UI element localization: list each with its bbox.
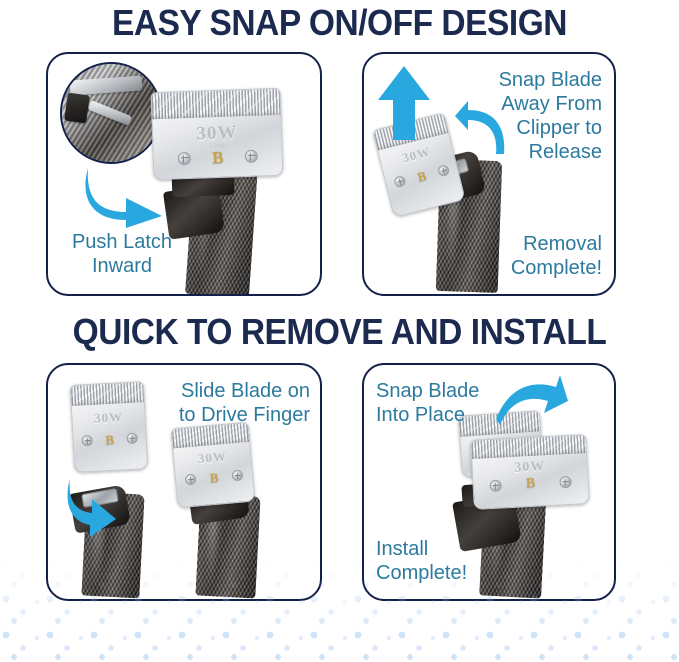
brand-logo-b: B xyxy=(73,430,146,450)
brand-logo-b: B xyxy=(176,467,253,490)
clipper-blade: 30W 1.5mm B xyxy=(151,88,284,180)
seated-blade-right: 30W B xyxy=(171,422,256,508)
caption-slide-blade: Slide Blade on to Drive Finger xyxy=(142,379,310,427)
brand-logo-b: B xyxy=(385,160,459,193)
caption-snap-into-place: Snap Blade Into Place xyxy=(376,379,526,427)
caption-install-complete: Install Complete! xyxy=(376,537,526,585)
detached-blade-left: 30W B xyxy=(70,381,149,473)
infographic-page: EASY SNAP ON/OFF DESIGN 30W 1.5mm B xyxy=(0,0,679,662)
blade-teeth xyxy=(152,89,281,119)
panel-snap-into-place: 30W B Snap Blade Into Place Install Comp… xyxy=(362,363,616,601)
page-title-top: EASY SNAP ON/OFF DESIGN xyxy=(24,2,655,44)
panel-push-latch: 30W 1.5mm B Push Latch Inward xyxy=(46,52,322,296)
inset-latch-arm xyxy=(64,93,90,124)
brand-logo-b: B xyxy=(473,473,588,495)
latch-closeup-inset xyxy=(60,62,162,164)
seated-blade: 30W B xyxy=(470,434,590,510)
curved-arrow-right-down-icon xyxy=(82,164,166,230)
straight-arrow-up-icon xyxy=(376,64,432,142)
blade-teeth xyxy=(471,435,586,459)
page-title-middle: QUICK TO REMOVE AND INSTALL xyxy=(24,311,655,353)
panel-snap-blade-away: 30W B Snap Blade Away From Clipper to Re… xyxy=(362,52,616,296)
brand-logo-b: B xyxy=(154,146,283,170)
blade-teeth xyxy=(71,382,144,406)
caption-push-latch: Push Latch Inward xyxy=(52,230,192,278)
caption-removal-complete: Removal Complete! xyxy=(442,232,602,280)
panel-slide-blade: 30W B 30W B Slide Blade on to Drive Fing… xyxy=(46,363,322,601)
curved-arrow-down-icon xyxy=(66,477,118,539)
blade-engraving-30w: 30W xyxy=(72,408,145,428)
caption-snap-away: Snap Blade Away From Clipper to Release xyxy=(442,68,602,164)
blade-engraving-30w: 30W xyxy=(174,447,251,470)
